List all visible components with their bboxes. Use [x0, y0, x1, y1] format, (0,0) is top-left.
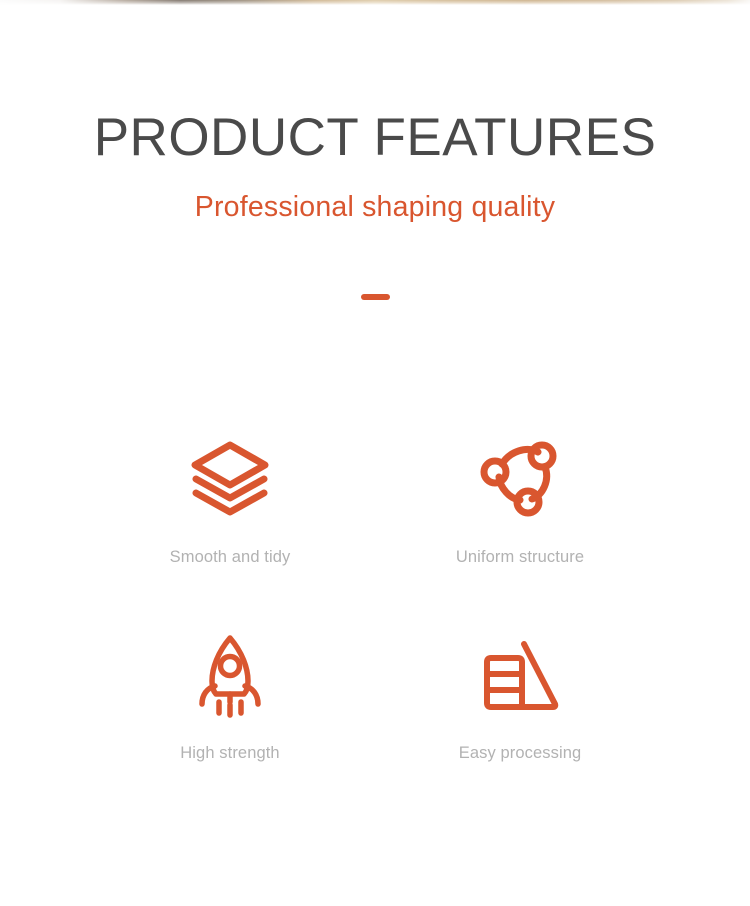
- feature-item-high-strength: High strength: [85, 630, 375, 828]
- feature-item-smooth-and-tidy: Smooth and tidy: [85, 432, 375, 630]
- layers-icon: [188, 432, 272, 524]
- page-header: PRODUCT FEATURES Professional shaping qu…: [0, 106, 750, 226]
- page-subtitle: Professional shaping quality: [0, 170, 750, 226]
- feature-label: High strength: [180, 742, 279, 764]
- feature-item-uniform-structure: Uniform structure: [375, 432, 665, 630]
- rocket-icon: [194, 630, 266, 722]
- page-title: PRODUCT FEATURES: [0, 106, 750, 170]
- feature-label: Easy processing: [459, 742, 582, 764]
- feature-label: Smooth and tidy: [170, 546, 291, 568]
- section-divider: [0, 294, 750, 300]
- image-bottom-edge-sliver: [0, 0, 750, 5]
- feature-grid: Smooth and tidy Uniform structure: [85, 432, 665, 828]
- divider-dash: [361, 294, 390, 300]
- molecular-structure-icon: [480, 432, 560, 524]
- feature-label: Uniform structure: [456, 546, 584, 568]
- feature-item-easy-processing: Easy processing: [375, 630, 665, 828]
- triangle-stack-icon: [480, 630, 560, 722]
